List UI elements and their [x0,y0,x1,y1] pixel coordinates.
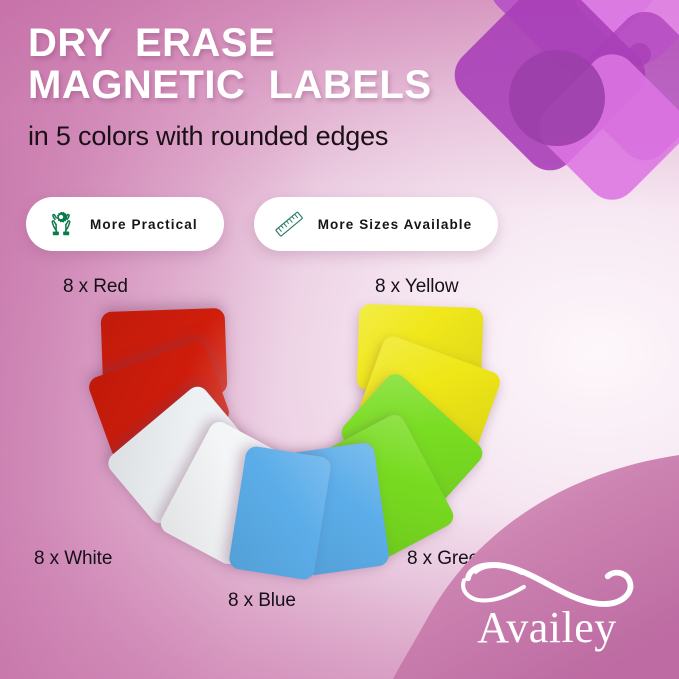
card-label-yellow: 8 x Yellow [375,276,459,298]
card-label-white: 8 x White [34,548,112,570]
brand-wordmark: Availey [437,605,657,651]
card-label-red: 8 x Red [63,276,128,298]
card-label-blue: 8 x Blue [228,590,296,612]
product-infographic: DRY ERASE MAGNETIC LABELS in 5 colors wi… [0,0,679,679]
brand-logo: Availey [437,557,657,653]
